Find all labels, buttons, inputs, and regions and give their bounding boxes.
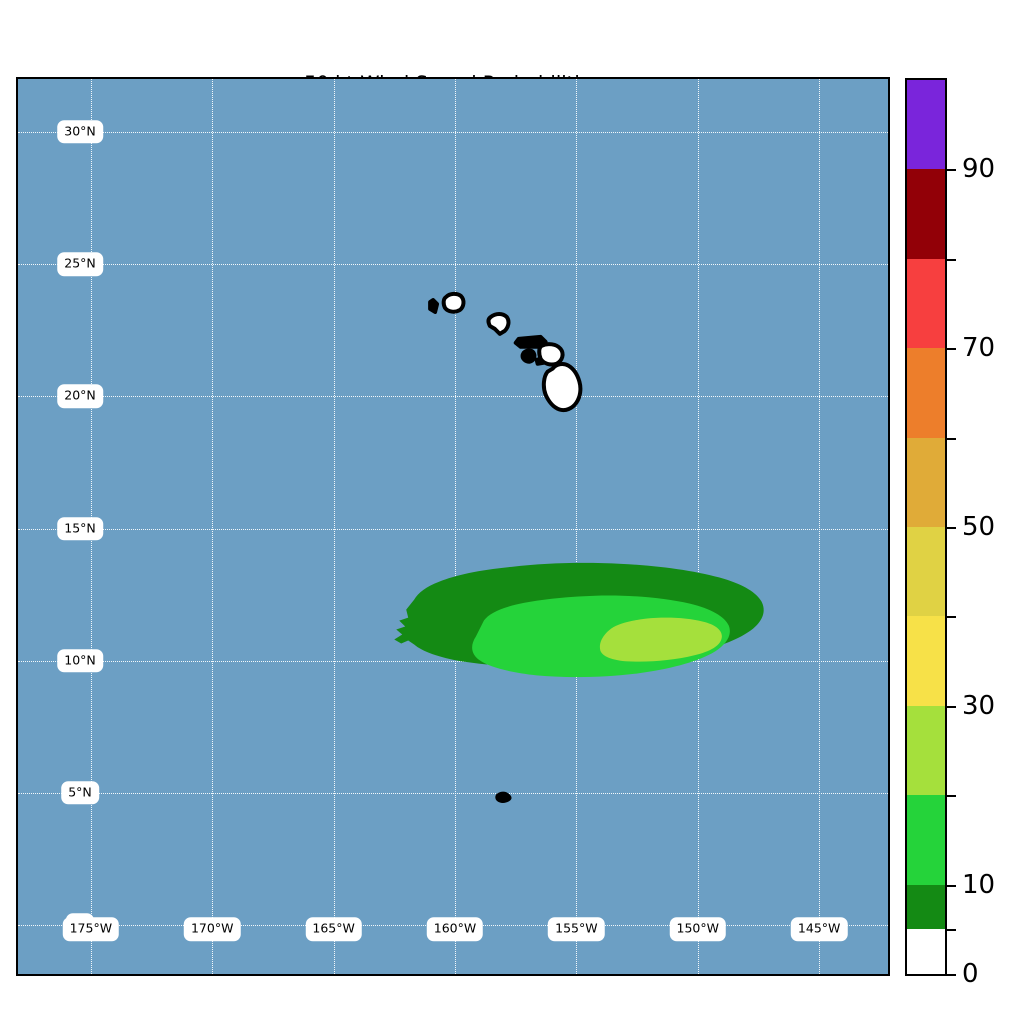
map-plot-area[interactable]: 0°5°N10°N15°N20°N25°N30°N175°W170°W165°W… bbox=[16, 77, 890, 976]
lon-label-145°W: 145°W bbox=[791, 917, 847, 941]
island-lanai bbox=[523, 351, 535, 362]
colorbar-tick-90 bbox=[947, 169, 956, 171]
island-kauai bbox=[444, 294, 464, 312]
lat-label-20°N: 20°N bbox=[57, 385, 103, 409]
lon-label-175°W: 175°W bbox=[63, 917, 119, 941]
map-canvas: 0°5°N10°N15°N20°N25°N30°N175°W170°W165°W… bbox=[18, 79, 888, 974]
colorbar-segment-0-5 bbox=[907, 929, 945, 974]
colorbar-segment-90-100 bbox=[907, 80, 945, 169]
lat-label-5°N: 5°N bbox=[61, 781, 99, 805]
colorbar-tick-50 bbox=[947, 527, 956, 529]
island-oahu bbox=[488, 314, 508, 334]
colorbar-segment-50-60 bbox=[907, 438, 945, 527]
island-kiritimati bbox=[495, 792, 511, 803]
colorbar-segment-30-40 bbox=[907, 616, 945, 705]
hawaiian-islands bbox=[430, 294, 580, 410]
lon-label-170°W: 170°W bbox=[184, 917, 240, 941]
colorbar-tick-20 bbox=[947, 795, 956, 797]
colorbar-ticklabel-30: 30 bbox=[962, 693, 995, 719]
island-niihau bbox=[430, 300, 437, 312]
lon-label-160°W: 160°W bbox=[427, 917, 483, 941]
colorbar-segment-80-90 bbox=[907, 169, 945, 258]
colorbar-tick-group: 01030507090 bbox=[947, 78, 1024, 976]
colorbar-ticklabel-70: 70 bbox=[962, 335, 995, 361]
colorbar-ticklabel-0: 0 bbox=[962, 961, 979, 987]
colorbar-tick-60 bbox=[947, 438, 956, 440]
colorbar-tick-10 bbox=[947, 885, 956, 887]
colorbar-tick-0 bbox=[947, 974, 956, 976]
colorbar-tick-30 bbox=[947, 706, 956, 708]
equatorial-islands bbox=[495, 792, 511, 803]
island-maui bbox=[539, 344, 562, 364]
lat-label-30°N: 30°N bbox=[57, 120, 103, 144]
colorbar[interactable] bbox=[905, 78, 947, 976]
map-geography-layer bbox=[18, 79, 888, 974]
colorbar-ticklabel-50: 50 bbox=[962, 514, 995, 540]
lon-label-155°W: 155°W bbox=[548, 917, 604, 941]
colorbar-ticklabel-10: 10 bbox=[962, 872, 995, 898]
lon-label-150°W: 150°W bbox=[670, 917, 726, 941]
probability-contours bbox=[394, 563, 763, 677]
island-hawaii bbox=[544, 364, 581, 410]
colorbar-tick-80 bbox=[947, 259, 956, 261]
lat-label-10°N: 10°N bbox=[57, 649, 103, 673]
lat-label-15°N: 15°N bbox=[57, 517, 103, 541]
lon-label-165°W: 165°W bbox=[305, 917, 361, 941]
colorbar-tick-70 bbox=[947, 348, 956, 350]
colorbar-segment-40-50 bbox=[907, 527, 945, 616]
lat-label-25°N: 25°N bbox=[57, 252, 103, 276]
colorbar-segment-60-70 bbox=[907, 348, 945, 437]
colorbar-segment-70-80 bbox=[907, 259, 945, 348]
colorbar-segment-20-30 bbox=[907, 706, 945, 795]
colorbar-segment-10-20 bbox=[907, 795, 945, 884]
colorbar-tick-40 bbox=[947, 616, 956, 618]
colorbar-tick-5 bbox=[947, 929, 956, 931]
colorbar-segment-5-10 bbox=[907, 885, 945, 930]
colorbar-ticklabel-90: 90 bbox=[962, 156, 995, 182]
